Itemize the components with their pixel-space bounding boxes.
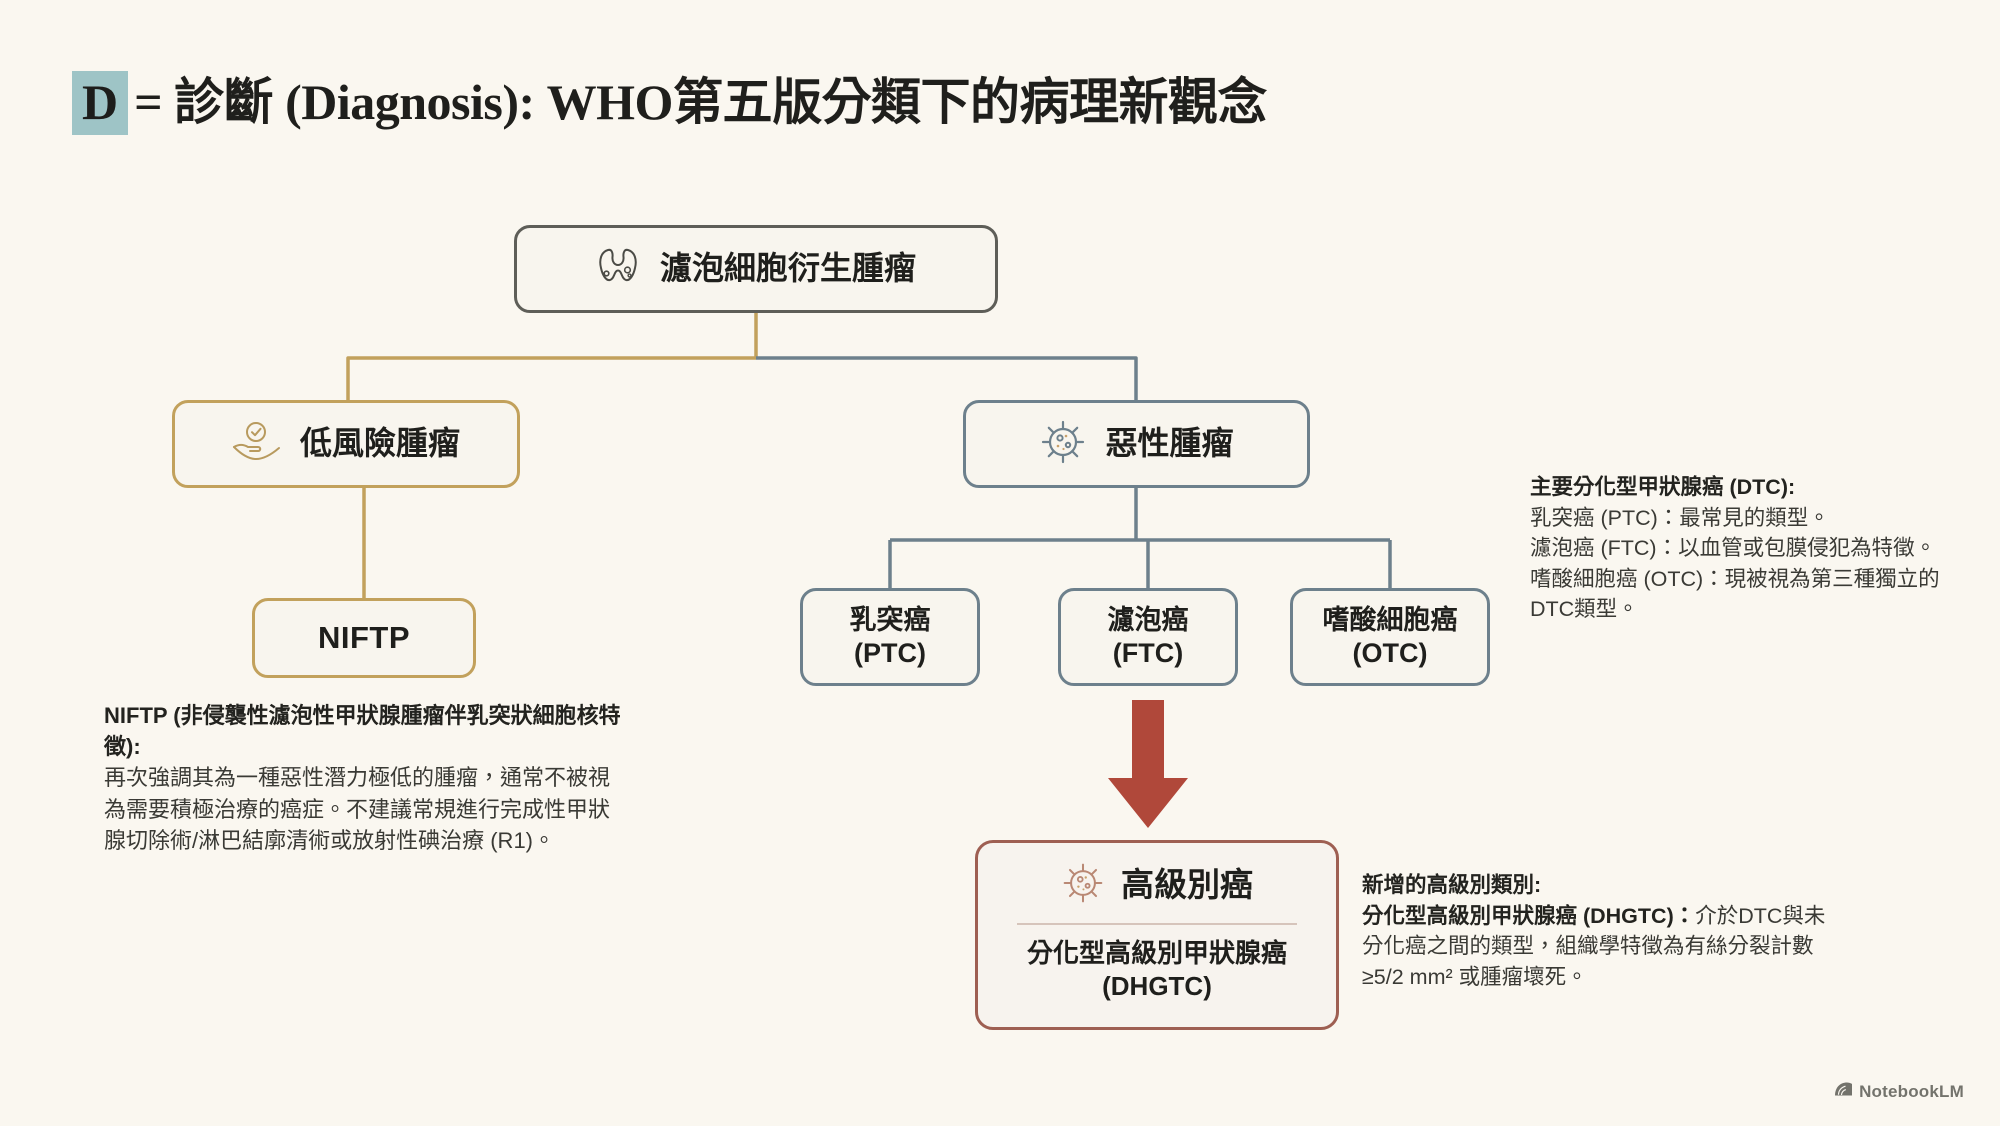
node-root-label: 濾泡細胞衍生腫瘤: [660, 249, 916, 288]
node-ptc[interactable]: 乳突癌 (PTC): [800, 588, 980, 686]
annotation-dhgtc-body: 分化型高級別甲狀腺癌 (DHGTC)：介於DTC與未分化癌之間的類型，組織學特徵…: [1362, 901, 1842, 993]
node-otc-label-cn: 嗜酸細胞癌: [1323, 605, 1458, 635]
node-ptc-label-cn: 乳突癌: [850, 605, 931, 635]
page-title: D = 診斷 (Diagnosis): WHO第五版分類下的病理新觀念: [72, 62, 1267, 135]
thyroid-gland-icon: [596, 246, 640, 293]
annotation-niftp-body: 再次強調其為一種惡性潛力極低的腫瘤，通常不被視為需要積極治療的癌症。不建議常規進…: [104, 762, 624, 856]
node-otc[interactable]: 嗜酸細胞癌 (OTC): [1290, 588, 1490, 686]
node-dhgtc-subtitle-cn: 分化型高級別甲狀腺癌: [1027, 938, 1287, 968]
node-ftc-label-en: (FTC): [1113, 638, 1183, 668]
node-dhgtc-subtitle-en: (DHGTC): [1102, 971, 1212, 1001]
dhgtc-heading-row: 高級別癌: [994, 861, 1320, 910]
annotation-niftp-heading: NIFTP (非侵襲性濾泡性甲狀腺腫瘤伴乳突狀細胞核特徵):: [104, 700, 624, 762]
node-ftc[interactable]: 濾泡癌 (FTC): [1058, 588, 1238, 686]
tumor-cell-icon: [1061, 861, 1105, 910]
dhgtc-divider: [1017, 923, 1297, 925]
node-niftp[interactable]: NIFTP: [252, 598, 476, 678]
node-ftc-label: 濾泡癌 (FTC): [1108, 604, 1189, 670]
annotation-dtc-heading: 主要分化型甲狀腺癌 (DTC):: [1530, 472, 1960, 503]
tumor-cell-icon: [1039, 418, 1087, 471]
node-ptc-label-en: (PTC): [854, 638, 926, 668]
hand-check-icon: [232, 421, 282, 468]
annotation-dhgtc-heading: 新增的高級別類別:: [1362, 870, 1842, 901]
notebooklm-icon: [1834, 1081, 1853, 1102]
node-otc-label: 嗜酸細胞癌 (OTC): [1323, 604, 1458, 670]
notebooklm-watermark: NotebookLM: [1834, 1081, 1964, 1102]
red-down-arrow: [1108, 700, 1188, 828]
annotation-niftp: NIFTP (非侵襲性濾泡性甲狀腺腫瘤伴乳突狀細胞核特徵): 再次強調其為一種惡…: [104, 700, 624, 856]
node-low-risk-tumor[interactable]: 低風險腫瘤: [172, 400, 520, 488]
node-dhgtc-heading: 高級別癌: [1121, 865, 1253, 905]
node-dhgtc[interactable]: 高級別癌 分化型高級別甲狀腺癌 (DHGTC): [975, 840, 1339, 1030]
node-otc-label-en: (OTC): [1353, 638, 1428, 668]
node-malignant-tumor[interactable]: 惡性腫瘤: [963, 400, 1310, 488]
annotation-dhgtc: 新增的高級別類別: 分化型高級別甲狀腺癌 (DHGTC)：介於DTC與未分化癌之…: [1362, 870, 1842, 992]
node-malignant-label: 惡性腫瘤: [1105, 424, 1233, 463]
node-ftc-label-cn: 濾泡癌: [1108, 605, 1189, 635]
title-text: = 診斷 (Diagnosis): WHO第五版分類下的病理新觀念: [134, 62, 1267, 134]
annotation-dtc-body: 乳突癌 (PTC)：最常見的類型。 濾泡癌 (FTC)：以血管或包膜侵犯為特徵。…: [1530, 503, 1960, 625]
title-highlight-letter: D: [72, 71, 128, 135]
node-low-risk-label: 低風險腫瘤: [300, 424, 460, 463]
node-follicular-derived-tumor[interactable]: 濾泡細胞衍生腫瘤: [514, 225, 998, 313]
notebooklm-label: NotebookLM: [1859, 1082, 1964, 1102]
node-ptc-label: 乳突癌 (PTC): [850, 604, 931, 670]
annotation-dtc: 主要分化型甲狀腺癌 (DTC): 乳突癌 (PTC)：最常見的類型。 濾泡癌 (…: [1530, 472, 1960, 625]
node-dhgtc-subtitle: 分化型高級別甲狀腺癌 (DHGTC): [1027, 937, 1287, 1003]
node-niftp-label: NIFTP: [318, 619, 410, 657]
